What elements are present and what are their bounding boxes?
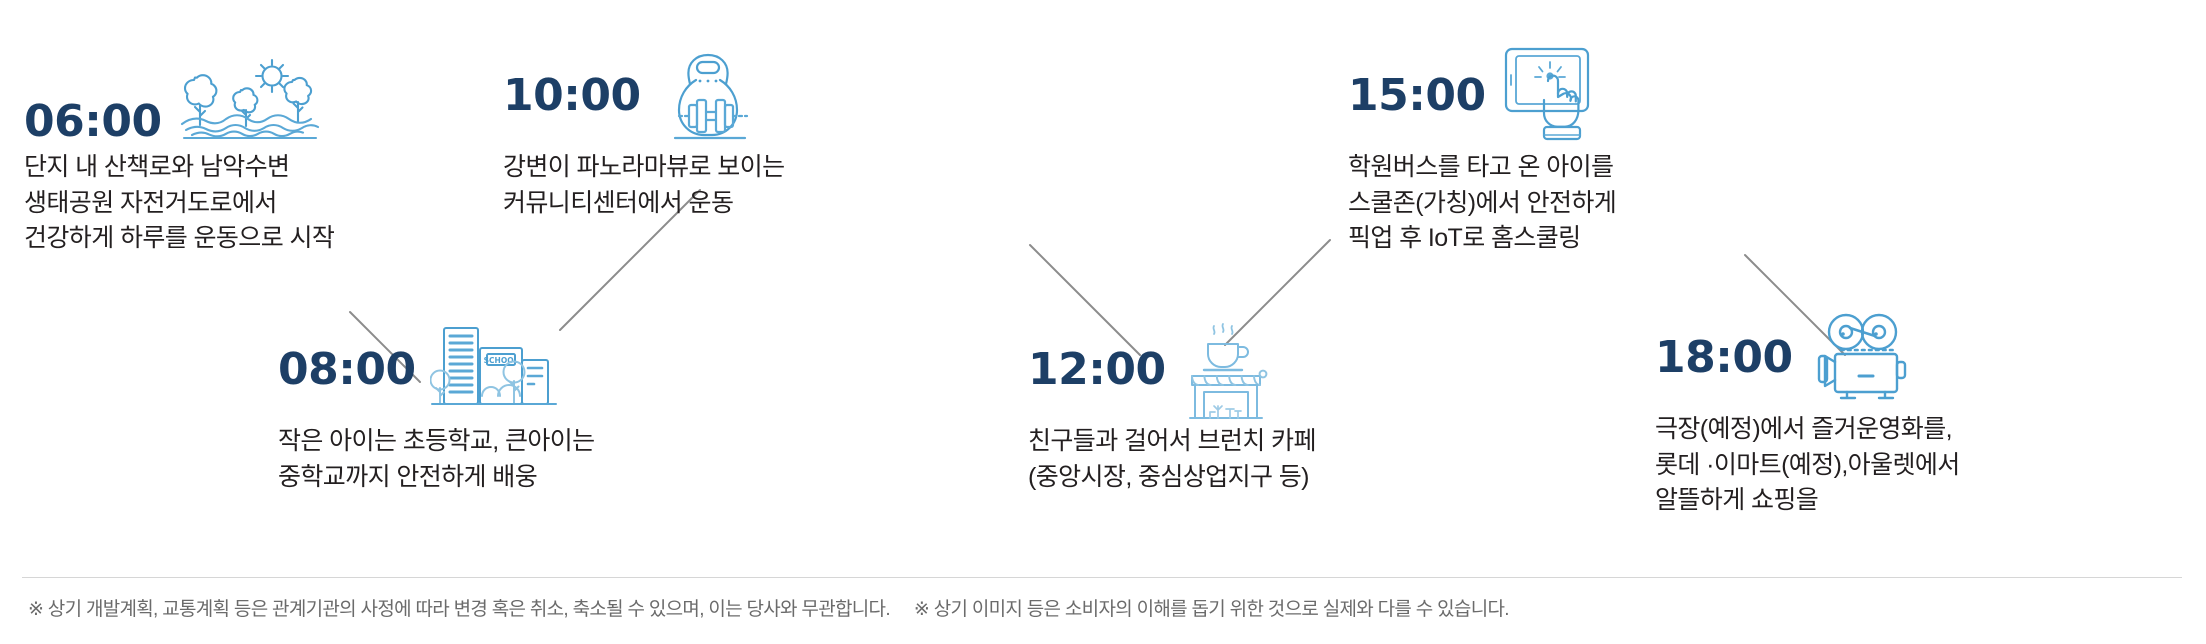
timeline-entry-0800: 08:00 SCHOOL [278,322,595,495]
time-label-1200: 12:00 [1028,348,1166,392]
entry-head: 15:00 [1348,48,1616,144]
cafe-storefront-icon [1180,318,1272,422]
entry-description-0600: 단지 내 산책로와 남악수변 생태공원 자전거도로에서 건강하게 하루를 운동으… [24,150,334,257]
footer-divider [22,577,2182,578]
svg-text:SCHOOL: SCHOOL [483,356,518,365]
tablet-touch-hand-icon [1500,45,1592,147]
footnote-development-plan: ※ 상기 개발계획, 교통계획 등은 관계기관의 사정에 따라 변경 혹은 취소… [28,598,890,623]
time-label-0600: 06:00 [24,100,162,144]
time-label-1500: 15:00 [1348,74,1486,118]
entry-head: 10:00 [503,48,785,144]
entry-description-0800: 작은 아이는 초등학교, 큰아이는 중학교까지 안전하게 배웅 [278,424,595,495]
timeline-entry-1800: 18:00 [1655,310,1960,519]
entry-head: 08:00 SCHOOL [278,322,595,418]
school-building-icon: SCHOOL [430,322,558,418]
entry-description-1800: 극장(예정)에서 즐거운영화를, 롯데 ·이마트(예정),아울렛에서 알뜰하게 … [1655,412,1960,519]
footer-notes: ※ 상기 개발계획, 교통계획 등은 관계기관의 사정에 따라 변경 혹은 취소… [28,598,1509,623]
time-label-1800: 18:00 [1655,336,1793,380]
entry-head: 18:00 [1655,310,1960,406]
kettlebell-dumbbell-icon [655,50,759,142]
timeline-entry-1200: 12:00 [1028,322,1316,495]
park-trees-sun-icon [176,54,324,140]
timeline-entry-1000: 10:00 [503,48,785,221]
entry-head: 06:00 [24,48,334,144]
timeline-infographic: 06:00 [0,0,2206,644]
entry-description-1200: 친구들과 걸어서 브런치 카페 (중앙시장, 중심상업지구 등) [1028,424,1316,495]
entry-description-1000: 강변이 파노라마뷰로 보이는 커뮤니티센터에서 운동 [503,150,785,221]
timeline-entry-1500: 15:00 [1348,48,1616,257]
entry-description-1500: 학원버스를 타고 온 아이를 스쿨존(가칭)에서 안전하게 픽업 후 IoT로 … [1348,150,1616,257]
timeline-entry-0600: 06:00 [24,48,334,257]
time-label-1000: 10:00 [503,74,641,118]
movie-camera-icon [1807,312,1919,404]
time-label-0800: 08:00 [278,348,416,392]
footnote-image-disclaimer: ※ 상기 이미지 등은 소비자의 이해를 돕기 위한 것으로 실제와 다를 수 … [914,598,1509,623]
entry-head: 12:00 [1028,322,1316,418]
